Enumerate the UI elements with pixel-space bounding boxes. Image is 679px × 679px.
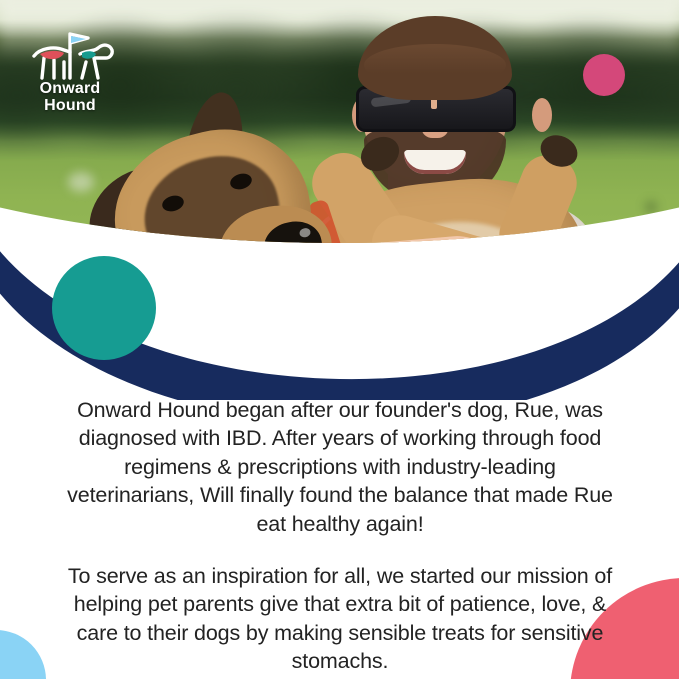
brand-story-card: Onward Hound Onward Hound began after ou… (0, 0, 679, 679)
pink-circle (583, 54, 625, 96)
brand-name: Onward Hound (24, 80, 116, 114)
teal-circle (52, 256, 156, 360)
story-copy: Onward Hound began after our founder's d… (62, 396, 618, 676)
story-paragraph-1: Onward Hound began after our founder's d… (62, 396, 618, 538)
brand-name-line1: Onward (24, 80, 116, 97)
orange-harness (400, 306, 470, 372)
brand-name-line2: Hound (24, 97, 116, 114)
story-paragraph-2: To serve as an inspiration for all, we s… (62, 562, 618, 676)
brand-logo[interactable]: Onward Hound (24, 28, 116, 116)
german-shepherd-subject (70, 96, 590, 392)
light-blue-circle (0, 630, 46, 679)
hair (358, 16, 512, 100)
onward-hound-dog-logo-icon (24, 28, 116, 82)
